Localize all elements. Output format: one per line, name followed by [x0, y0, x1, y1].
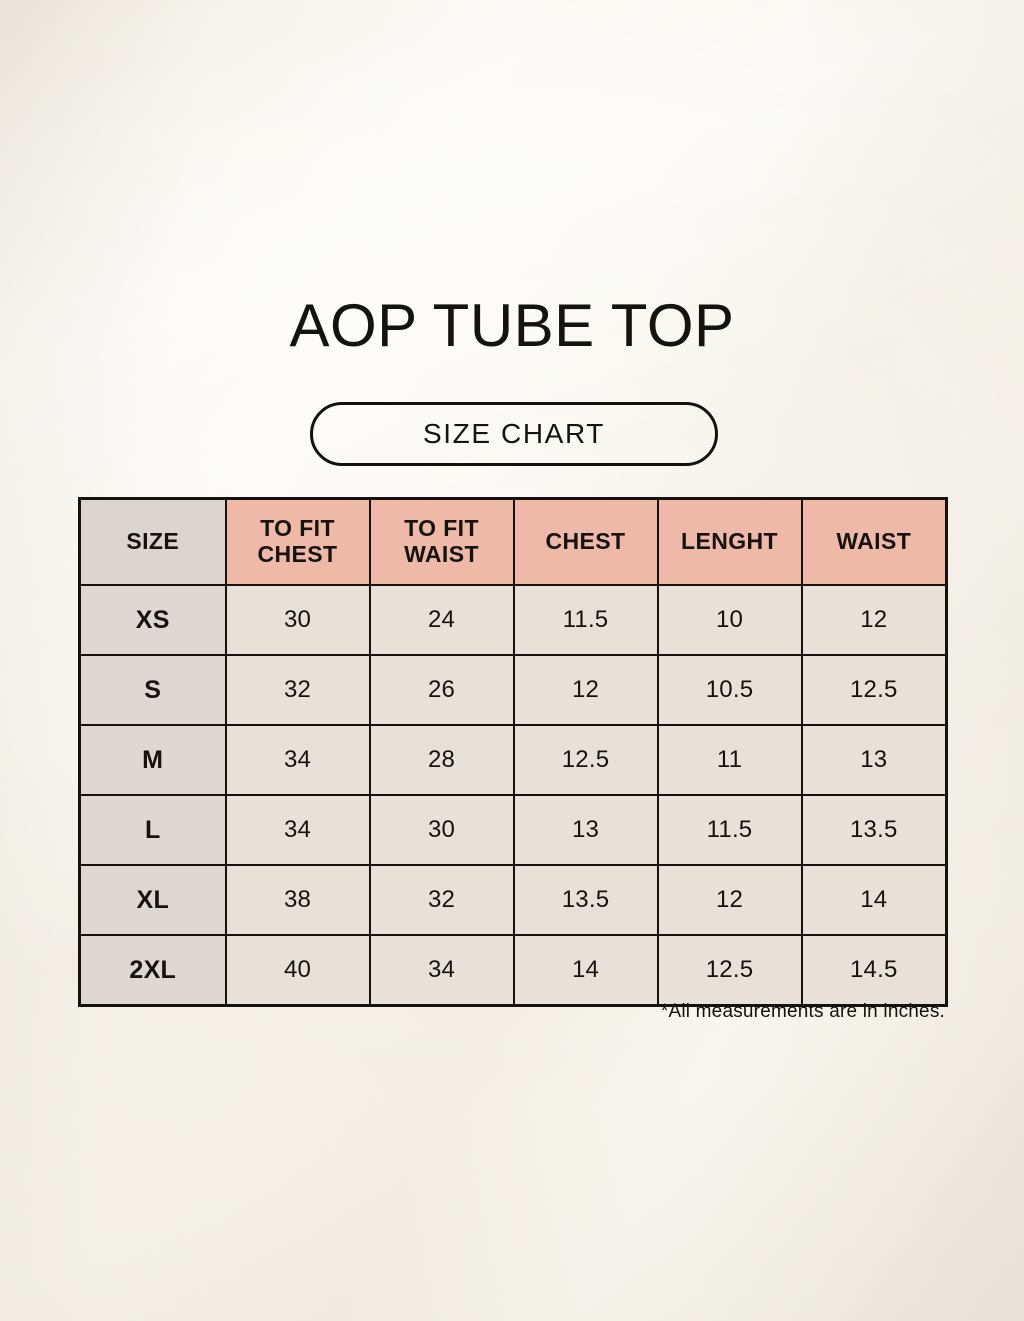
cell-waist: 13.5	[802, 795, 947, 865]
column-header-size: SIZE	[80, 499, 226, 586]
cell-size: M	[80, 725, 226, 795]
size-chart-page: AOP TUBE TOP SIZE CHART SIZE TO FIT CHES…	[0, 0, 1024, 1321]
cell-chest: 14	[514, 935, 658, 1006]
table-head: SIZE TO FIT CHEST TO FIT WAIST CHEST LEN…	[80, 499, 947, 586]
cell-lenght: 12.5	[658, 935, 802, 1006]
cell-to-fit-waist: 26	[370, 655, 514, 725]
size-chart-badge: SIZE CHART	[310, 402, 718, 466]
cell-to-fit-chest: 32	[226, 655, 370, 725]
cell-lenght: 11.5	[658, 795, 802, 865]
cell-to-fit-chest: 34	[226, 795, 370, 865]
cell-to-fit-waist: 30	[370, 795, 514, 865]
cell-size: S	[80, 655, 226, 725]
cell-size: XS	[80, 585, 226, 655]
cell-waist: 14.5	[802, 935, 947, 1006]
table-row: XL 38 32 13.5 12 14	[80, 865, 947, 935]
cell-size: 2XL	[80, 935, 226, 1006]
cell-lenght: 10.5	[658, 655, 802, 725]
cell-to-fit-waist: 32	[370, 865, 514, 935]
cell-chest: 13.5	[514, 865, 658, 935]
cell-to-fit-waist: 24	[370, 585, 514, 655]
cell-size: L	[80, 795, 226, 865]
cell-waist: 14	[802, 865, 947, 935]
cell-chest: 12.5	[514, 725, 658, 795]
size-chart-badge-label: SIZE CHART	[423, 420, 605, 448]
cell-chest: 12	[514, 655, 658, 725]
table-row: 2XL 40 34 14 12.5 14.5	[80, 935, 947, 1006]
cell-size: XL	[80, 865, 226, 935]
column-header-to-fit-waist: TO FIT WAIST	[370, 499, 514, 586]
column-header-to-fit-chest: TO FIT CHEST	[226, 499, 370, 586]
table-row: XS 30 24 11.5 10 12	[80, 585, 947, 655]
table-header-row: SIZE TO FIT CHEST TO FIT WAIST CHEST LEN…	[80, 499, 947, 586]
column-header-waist: WAIST	[802, 499, 947, 586]
column-header-lenght: LENGHT	[658, 499, 802, 586]
cell-waist: 13	[802, 725, 947, 795]
cell-to-fit-waist: 34	[370, 935, 514, 1006]
cell-lenght: 10	[658, 585, 802, 655]
cell-to-fit-chest: 38	[226, 865, 370, 935]
measurements-footnote: *All measurements are in inches.	[661, 1001, 945, 1023]
cell-lenght: 12	[658, 865, 802, 935]
page-title: AOP TUBE TOP	[0, 296, 1024, 356]
column-header-chest: CHEST	[514, 499, 658, 586]
cell-to-fit-chest: 30	[226, 585, 370, 655]
table-row: S 32 26 12 10.5 12.5	[80, 655, 947, 725]
cell-lenght: 11	[658, 725, 802, 795]
size-chart-table-container: SIZE TO FIT CHEST TO FIT WAIST CHEST LEN…	[78, 497, 945, 1007]
cell-chest: 11.5	[514, 585, 658, 655]
cell-waist: 12	[802, 585, 947, 655]
table-body: XS 30 24 11.5 10 12 S 32 26 12 10.5 12.5…	[80, 585, 947, 1006]
cell-to-fit-waist: 28	[370, 725, 514, 795]
cell-to-fit-chest: 40	[226, 935, 370, 1006]
cell-waist: 12.5	[802, 655, 947, 725]
table-row: L 34 30 13 11.5 13.5	[80, 795, 947, 865]
cell-to-fit-chest: 34	[226, 725, 370, 795]
table-row: M 34 28 12.5 11 13	[80, 725, 947, 795]
size-chart-table: SIZE TO FIT CHEST TO FIT WAIST CHEST LEN…	[78, 497, 948, 1007]
cell-chest: 13	[514, 795, 658, 865]
